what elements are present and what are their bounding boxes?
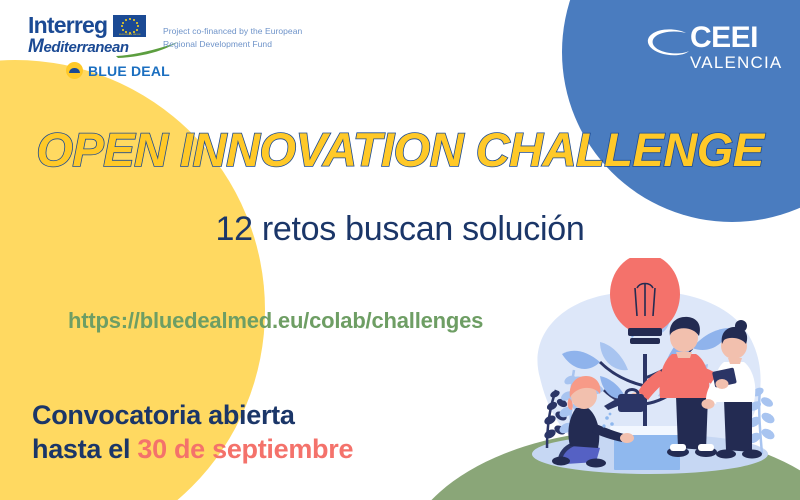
eu-funding-note: Project co-financed by the European Regi…: [163, 25, 323, 51]
deadline-line-2: hasta el 30 de septiembre: [32, 432, 353, 466]
challenge-url-link[interactable]: https://bluedealmed.eu/colab/challenges: [68, 308, 483, 334]
deadline-date: 30 de septiembre: [137, 434, 353, 464]
ceei-city: VALENCIA: [690, 54, 782, 71]
deadline-text: Convocatoria abierta hasta el 30 de sept…: [32, 398, 353, 467]
ceei-ellipse-icon: [646, 24, 690, 64]
interreg-wordmark: Interreg: [28, 14, 107, 37]
people-growing-idea-plant-illustration: [500, 258, 800, 500]
programme-initial: M: [28, 36, 43, 57]
european-union-flag-icon: EUROPEAN UNION: [113, 15, 146, 37]
ceei-name: CEEI: [690, 24, 782, 53]
blue-deal-label: BLUE DEAL: [88, 63, 170, 79]
blue-deal-lockup: BLUE DEAL: [66, 62, 178, 79]
promotional-poster: Interreg EUROPEAN UNION Mediterranean: [0, 0, 800, 500]
interreg-mediterranean-logo: Interreg EUROPEAN UNION Mediterranean: [28, 14, 178, 79]
page-title: OPEN INNOVATION CHALLENGE: [0, 122, 800, 177]
deadline-prefix: hasta el: [32, 434, 137, 464]
ceei-valencia-logo: CEEI VALENCIA: [646, 24, 786, 72]
interreg-wordmark-row: Interreg EUROPEAN UNION: [28, 14, 178, 37]
ceei-text-block: CEEI VALENCIA: [690, 24, 782, 71]
blue-deal-wave-icon: [66, 62, 83, 79]
deadline-line-1: Convocatoria abierta: [32, 398, 353, 432]
page-subtitle: 12 retos buscan solución: [0, 210, 800, 249]
